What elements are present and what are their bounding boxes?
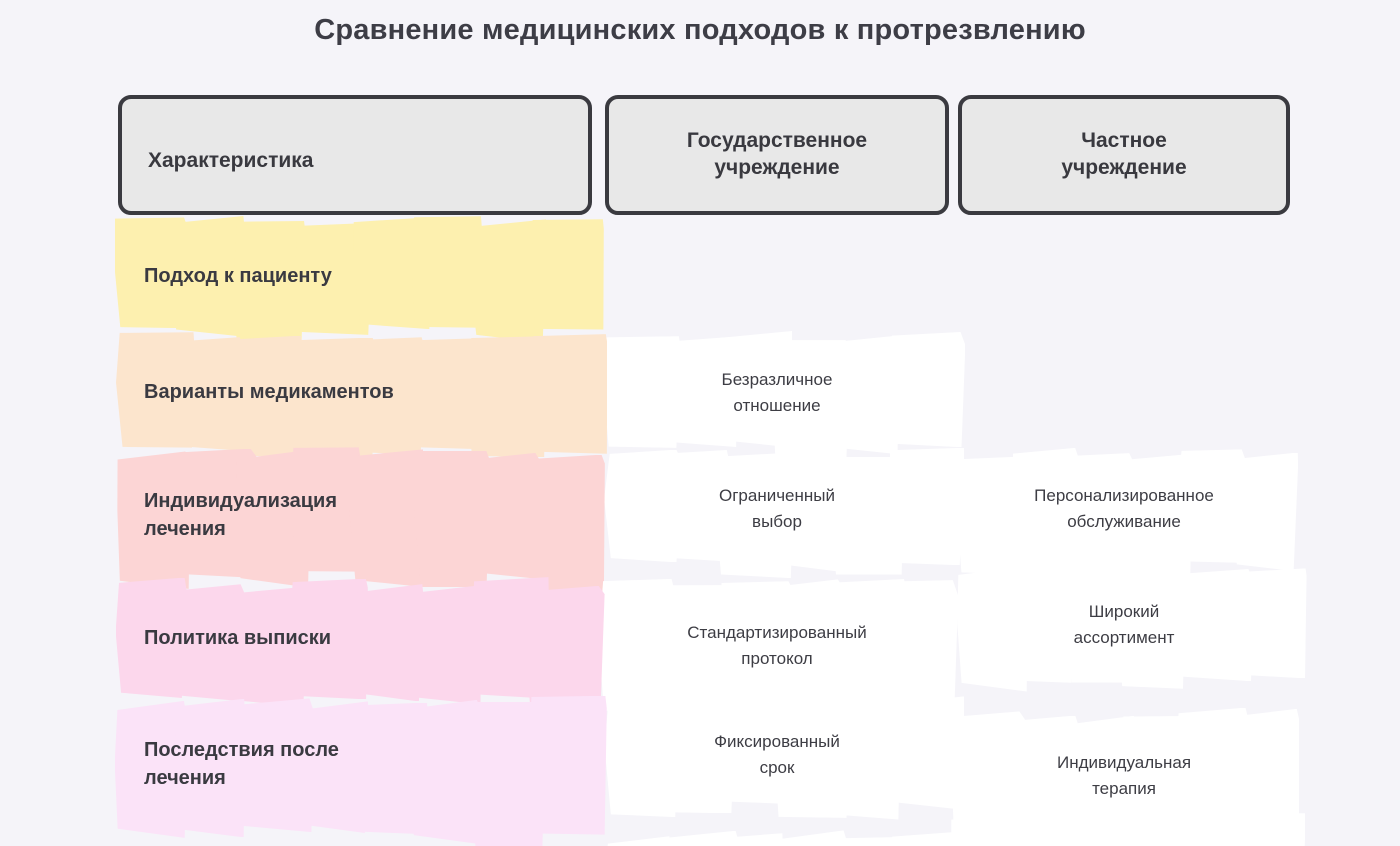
row-feature-cell: Подход к пациенту <box>118 219 592 335</box>
header-label-public: Государственноеучреждение <box>687 128 867 181</box>
row-feature-label: Подход к пациенту <box>118 219 592 335</box>
page-title: Сравнение медицинских подходов к протрез… <box>0 14 1400 47</box>
row-value-text: Ограниченныйвыбор <box>605 451 949 567</box>
comparison-table-page: Сравнение медицинских подходов к протрез… <box>0 0 1400 846</box>
row-public-cell: Стандартизированныйпротокол <box>605 581 949 711</box>
table-row: Подход к пациентуБезразличноеотношениеПе… <box>118 219 1290 335</box>
row-value-text: Замечаемыесимптомы <box>605 833 949 846</box>
table-body: Подход к пациентуБезразличноеотношениеПе… <box>118 219 1290 833</box>
row-public-cell: Фиксированныйсрок <box>605 697 949 813</box>
row-private-cell: Персонализированноеобслуживание <box>958 451 1290 567</box>
row-feature-cell: Последствия послелечения <box>118 697 592 833</box>
row-feature-cell: Варианты медикаментов <box>118 335 592 451</box>
row-public-cell: Замечаемыесимптомы <box>605 833 949 846</box>
row-value-text: Персонализированноеобслуживание <box>958 451 1290 567</box>
row-value-text: Фиксированныйсрок <box>605 697 949 813</box>
row-feature-label: Индивидуализациялечения <box>118 451 592 581</box>
comparison-table: Характеристика Государственноеучреждение… <box>118 95 1290 833</box>
table-header-row: Характеристика Государственноеучреждение… <box>118 95 1290 219</box>
row-feature-cell: Индивидуализациялечения <box>118 451 592 581</box>
header-cell-public: Государственноеучреждение <box>605 95 949 215</box>
row-value-text: Широкийассортимент <box>958 567 1290 683</box>
row-feature-label: Последствия послелечения <box>118 697 592 833</box>
header-cell-feature: Характеристика <box>118 95 592 215</box>
header-cell-private: Частноеучреждение <box>958 95 1290 215</box>
row-private-cell: Основанный насостоянии <box>958 813 1290 846</box>
row-value-text: Основанный насостоянии <box>958 813 1290 846</box>
row-feature-label: Политика выписки <box>118 581 592 697</box>
header-label-private: Частноеучреждение <box>1061 128 1186 181</box>
row-value-text: Стандартизированныйпротокол <box>605 581 949 711</box>
row-private-cell: Широкийассортимент <box>958 567 1290 683</box>
row-public-cell: Безразличноеотношение <box>605 335 949 451</box>
row-value-text: Безразличноеотношение <box>605 335 949 451</box>
row-feature-cell: Политика выписки <box>118 581 592 697</box>
row-public-cell: Ограниченныйвыбор <box>605 451 949 567</box>
header-label-feature: Характеристика <box>148 148 313 175</box>
row-feature-label: Варианты медикаментов <box>118 335 592 451</box>
